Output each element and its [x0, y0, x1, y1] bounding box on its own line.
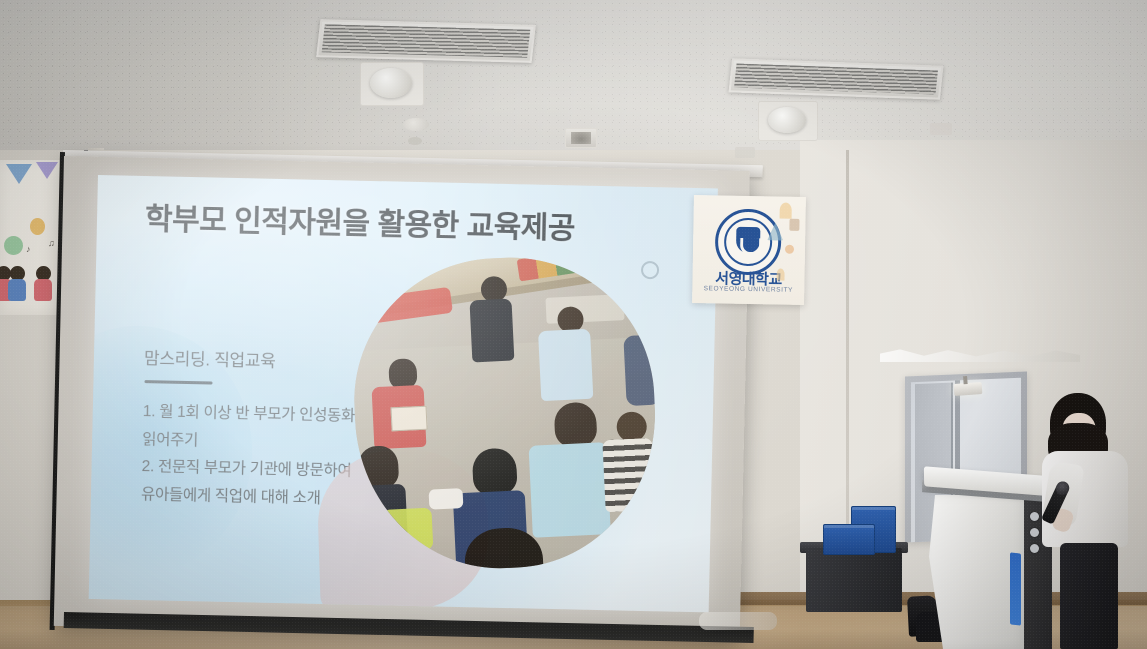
banner-name-english: SEOYEONG UNIVERSITY — [692, 285, 804, 294]
photo-inner — [348, 251, 663, 575]
photo-child — [545, 401, 611, 537]
photo-child — [623, 335, 660, 407]
podium-accent-stripe — [1010, 552, 1021, 625]
slide-title: 학부모 인적자원을 활용한 교육제공 — [145, 200, 576, 249]
photo-teacher — [476, 276, 514, 363]
confetti-icon — [780, 203, 792, 219]
lecture-hall-photo: ♪ ♫ 학부모 인적자원을 활용한 교육제공 맘스리딩. 직업교육 1. 월 1… — [0, 0, 1147, 649]
balloon-icon — [30, 218, 45, 235]
recessed-spotlight-icon — [565, 128, 597, 148]
blue-crate — [823, 524, 875, 555]
recessed-spotlight-icon — [930, 123, 952, 135]
sprinkler-icon — [408, 137, 422, 145]
university-banner: 서영대학교 SEOYEONG UNIVERSITY — [692, 195, 806, 305]
bunting-icon — [6, 164, 32, 184]
photo-child — [452, 526, 557, 575]
slide-classroom-photo — [348, 251, 663, 575]
presenter — [1040, 393, 1132, 649]
mural-child — [8, 266, 26, 301]
photo-child — [611, 411, 656, 512]
photo-child — [550, 306, 593, 401]
downlight-icon — [370, 68, 412, 98]
dark-bin — [806, 548, 902, 612]
photo-shoe — [429, 488, 464, 510]
presenter-legs — [1060, 543, 1118, 649]
air-diffuser-icon — [316, 19, 536, 63]
photo-yellow-bag — [381, 508, 433, 552]
music-note-icon: ♫ — [48, 238, 55, 248]
podium-knob[interactable] — [1030, 512, 1039, 521]
wall-lamp-icon — [954, 382, 983, 396]
university-crest-icon — [715, 208, 782, 275]
music-note-icon: ♪ — [26, 244, 31, 254]
crest-emblem — [740, 238, 762, 255]
podium-knob[interactable] — [1030, 544, 1039, 553]
bunting-icon — [36, 162, 58, 179]
projected-slide: 학부모 인적자원을 활용한 교육제공 맘스리딩. 직업교육 1. 월 1회 이상… — [89, 175, 718, 612]
balloon-icon — [4, 236, 23, 255]
recessed-spotlight-icon — [735, 147, 755, 158]
mural-child — [34, 266, 52, 301]
plastic-bag — [699, 612, 777, 630]
downlight-icon — [768, 107, 806, 133]
confetti-icon — [785, 245, 794, 254]
photo-child — [382, 358, 426, 449]
confetti-icon — [789, 219, 799, 231]
confetti-icon — [776, 268, 784, 280]
smoke-detector-icon — [403, 118, 429, 131]
podium-knob[interactable] — [1030, 528, 1039, 537]
